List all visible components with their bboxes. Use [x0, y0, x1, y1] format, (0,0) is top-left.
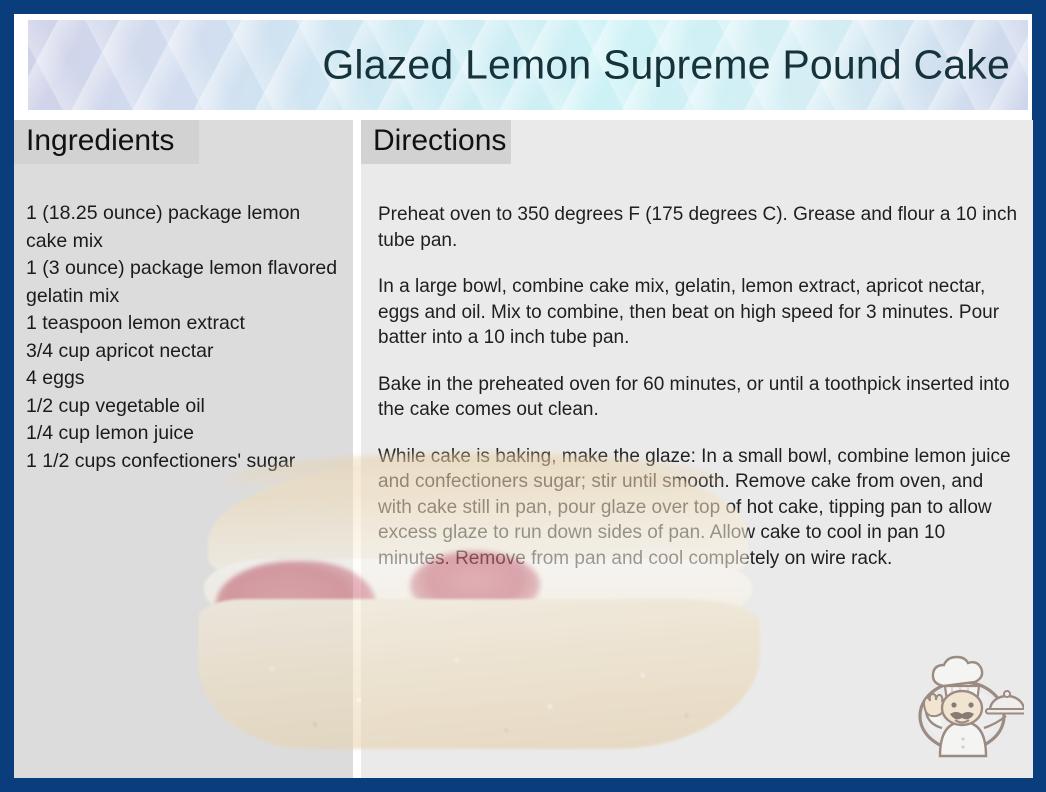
- ingredient-item: 1/2 cup vegetable oil: [26, 393, 343, 421]
- ingredient-item: 1 (3 ounce) package lemon flavored gelat…: [26, 255, 343, 310]
- chef-mascot-logo: [904, 644, 1024, 764]
- direction-step: Preheat oven to 350 degrees F (175 degre…: [378, 202, 1019, 253]
- ingredient-item: 4 eggs: [26, 365, 343, 393]
- ingredients-list: 1 (18.25 ounce) package lemon cake mix1 …: [26, 200, 343, 475]
- ingredient-item: 1/4 cup lemon juice: [26, 420, 343, 448]
- ingredients-panel: Ingredients 1 (18.25 ounce) package lemo…: [14, 120, 353, 778]
- ingredient-item: 1 (18.25 ounce) package lemon cake mix: [26, 200, 343, 255]
- direction-step: Bake in the preheated oven for 60 minute…: [378, 372, 1019, 423]
- ingredient-item: 1 teaspoon lemon extract: [26, 310, 343, 338]
- recipe-card: Glazed Lemon Supreme Pound Cake Ingredie…: [0, 0, 1046, 792]
- direction-step: While cake is baking, make the glaze: In…: [378, 444, 1019, 572]
- chef-icon: [904, 644, 1024, 764]
- directions-heading: Directions: [373, 124, 506, 158]
- card-inner-mat: Glazed Lemon Supreme Pound Cake Ingredie…: [14, 14, 1032, 778]
- ingredients-heading: Ingredients: [26, 124, 174, 158]
- ingredient-item: 1 1/2 cups confectioners' sugar: [26, 448, 343, 476]
- directions-steps: Preheat oven to 350 degrees F (175 degre…: [378, 202, 1019, 592]
- direction-step: In a large bowl, combine cake mix, gelat…: [378, 274, 1019, 351]
- ingredients-items: 1 (18.25 ounce) package lemon cake mix1 …: [26, 200, 343, 475]
- cloche-icon: [986, 691, 1024, 714]
- ingredient-item: 3/4 cup apricot nectar: [26, 338, 343, 366]
- page-title: Glazed Lemon Supreme Pound Cake: [322, 42, 1010, 89]
- title-banner: Glazed Lemon Supreme Pound Cake: [28, 20, 1028, 110]
